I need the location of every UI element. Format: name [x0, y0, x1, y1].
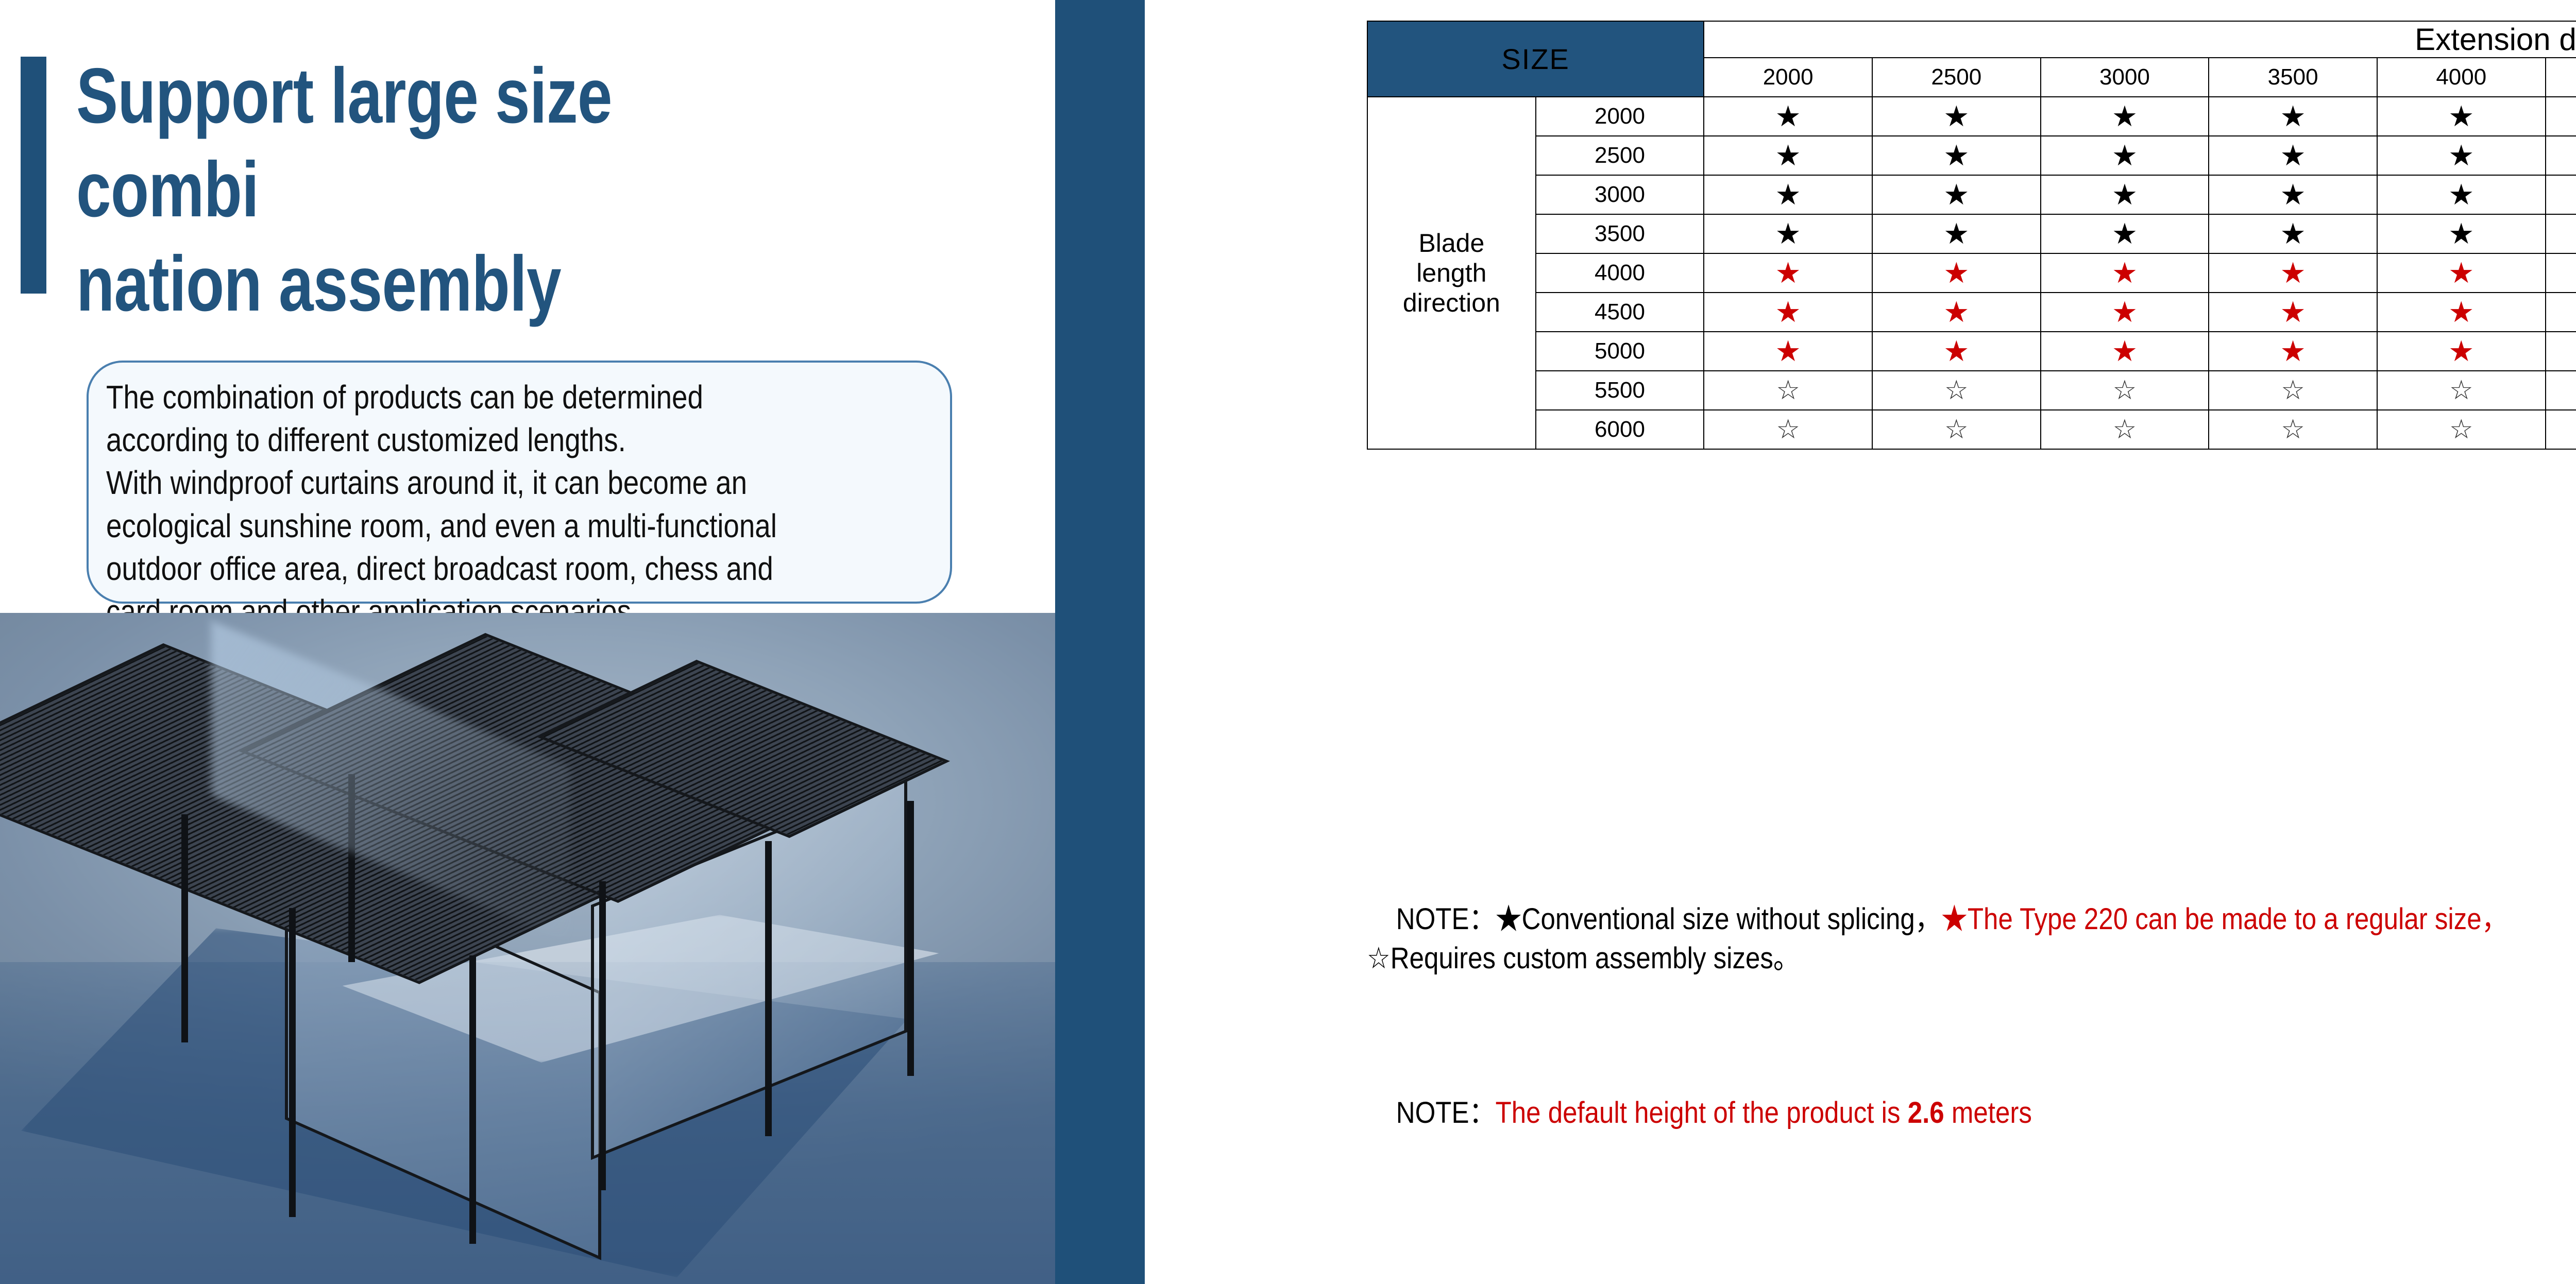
size-matrix-container: SIZE Extension direction 200025003000350…: [1367, 21, 2576, 450]
row-header-2000: 2000: [1536, 97, 1704, 136]
note-splicing: NOTE：★Conventional size without splicing…: [1367, 861, 2576, 1017]
red-star-icon: ★: [2112, 298, 2138, 327]
cell-4000-4000: ★: [2377, 253, 2546, 293]
black-star-icon: ★: [2112, 180, 2138, 209]
black-star-icon: ★: [2448, 180, 2474, 209]
cell-4000-4500: ★: [2546, 253, 2576, 293]
red-star-icon: ★: [1775, 298, 1801, 327]
table-row: 3000★★★★★★★★★☆: [1367, 175, 2576, 214]
black-star-icon: ★: [2112, 102, 2138, 131]
black-star-icon: ★: [2280, 102, 2306, 131]
black-star-icon: ★: [2280, 141, 2306, 170]
red-star-icon: ★: [2280, 259, 2306, 287]
notes-container: NOTE：★Conventional size without splicing…: [1367, 861, 2576, 1171]
red-star-icon: ★: [2280, 337, 2306, 366]
hollow-star-icon: ☆: [2113, 377, 2137, 404]
table-head-row-1: SIZE Extension direction: [1367, 21, 2576, 58]
cell-5000-2000: ★: [1704, 332, 1872, 371]
hollow-star-icon: ☆: [1944, 377, 1969, 404]
hollow-star-icon: ☆: [2281, 416, 2305, 443]
cell-2000-2500: ★: [1872, 97, 2041, 136]
left-panel: Support large size combi nation assembly…: [0, 0, 1055, 1284]
red-star-icon: ★: [1775, 259, 1801, 287]
note-default-height: NOTE：The default height of the product i…: [1367, 1055, 2576, 1171]
column-header-4000: 4000: [2377, 58, 2546, 97]
blade-length-direction-label: Blade length direction: [1367, 97, 1536, 449]
hollow-star-icon: ☆: [2113, 416, 2137, 443]
support-post: [765, 841, 772, 1136]
cell-4500-3000: ★: [2041, 293, 2209, 332]
cell-5500-2500: ☆: [1872, 371, 2041, 410]
note2-red-a: The default height of the product is: [1496, 1096, 1908, 1129]
cell-3000-3500: ★: [2209, 175, 2377, 214]
table-row: 5500☆☆☆☆☆☆☆☆☆☆: [1367, 371, 2576, 410]
cell-2500-2000: ★: [1704, 136, 1872, 175]
black-star-icon: ★: [1775, 180, 1801, 209]
cell-5500-4000: ☆: [2377, 371, 2546, 410]
red-star-icon: ★: [2112, 337, 2138, 366]
extension-direction-header: Extension direction: [1704, 21, 2576, 58]
cell-2000-3000: ★: [2041, 97, 2209, 136]
red-star-icon: ★: [2112, 259, 2138, 287]
support-post: [181, 814, 188, 1042]
cell-3000-2000: ★: [1704, 175, 1872, 214]
cell-2000-4500: ★: [2546, 97, 2576, 136]
callout-text: The combination of products can be deter…: [106, 376, 828, 633]
row-header-4500: 4500: [1536, 293, 1704, 332]
row-header-6000: 6000: [1536, 410, 1704, 449]
page-title: Support large size combi nation assembly: [76, 49, 802, 331]
callout-box: The combination of products can be deter…: [87, 361, 952, 604]
cell-3500-3500: ★: [2209, 214, 2377, 253]
hollow-star-icon: ☆: [1776, 416, 1800, 443]
cell-3000-3000: ★: [2041, 175, 2209, 214]
cell-3500-3000: ★: [2041, 214, 2209, 253]
cell-6000-4500: ☆: [2546, 410, 2576, 449]
cell-5500-3000: ☆: [2041, 371, 2209, 410]
column-header-3500: 3500: [2209, 58, 2377, 97]
cell-2500-4500: ★: [2546, 136, 2576, 175]
hollow-star-icon: ☆: [2449, 377, 2473, 404]
cell-2500-3000: ★: [2041, 136, 2209, 175]
cell-4000-2000: ★: [1704, 253, 1872, 293]
red-star-icon: ★: [2448, 259, 2474, 287]
cell-3500-4000: ★: [2377, 214, 2546, 253]
red-star-icon: ★: [2280, 298, 2306, 327]
cell-6000-2500: ☆: [1872, 410, 2041, 449]
row-header-5000: 5000: [1536, 332, 1704, 371]
note1-black-a: ★Conventional size without splicing，: [1496, 902, 1941, 936]
black-star-icon: ★: [1775, 219, 1801, 248]
product-image: [0, 613, 1055, 1284]
black-star-icon: ★: [1775, 141, 1801, 170]
cell-3000-4500: ★: [2546, 175, 2576, 214]
black-star-icon: ★: [2448, 102, 2474, 131]
support-post: [907, 801, 914, 1076]
cell-4000-2500: ★: [1872, 253, 2041, 293]
cell-2000-2000: ★: [1704, 97, 1872, 136]
cell-4500-2000: ★: [1704, 293, 1872, 332]
cell-5500-3500: ☆: [2209, 371, 2377, 410]
red-star-icon: ★: [1943, 259, 1969, 287]
black-star-icon: ★: [2112, 219, 2138, 248]
cell-5000-3000: ★: [2041, 332, 2209, 371]
column-header-3000: 3000: [2041, 58, 2209, 97]
title-accent-bar: [21, 57, 46, 294]
cell-6000-2000: ☆: [1704, 410, 1872, 449]
row-header-5500: 5500: [1536, 371, 1704, 410]
cell-2500-2500: ★: [1872, 136, 2041, 175]
blue-divider-band: [1055, 0, 1145, 1284]
row-header-3500: 3500: [1536, 214, 1704, 253]
cell-3500-2500: ★: [1872, 214, 2041, 253]
cell-6000-3000: ☆: [2041, 410, 2209, 449]
hollow-star-icon: ☆: [2281, 377, 2305, 404]
hollow-star-icon: ☆: [1776, 377, 1800, 404]
cell-5000-4500: ★: [2546, 332, 2576, 371]
cell-4500-2500: ★: [1872, 293, 2041, 332]
row-header-3000: 3000: [1536, 175, 1704, 214]
table-row: 4500★★★★★★★★★☆: [1367, 293, 2576, 332]
red-star-icon: ★: [1943, 298, 1969, 327]
black-star-icon: ★: [1943, 219, 1969, 248]
red-star-icon: ★: [1943, 337, 1969, 366]
note2-label: NOTE：: [1396, 1096, 1496, 1129]
table-head: SIZE Extension direction 200025003000350…: [1367, 21, 2576, 97]
red-star-icon: ★: [1775, 337, 1801, 366]
cell-5000-4000: ★: [2377, 332, 2546, 371]
cell-2500-3500: ★: [2209, 136, 2377, 175]
cell-6000-4000: ☆: [2377, 410, 2546, 449]
column-header-2000: 2000: [1704, 58, 1872, 97]
table-row: Blade length direction2000★★★★★★★★★☆: [1367, 97, 2576, 136]
table-row: 2500★★★★★★★★★☆: [1367, 136, 2576, 175]
note1-red: ★The Type 220 can be made to a regular s…: [1941, 902, 2508, 936]
black-star-icon: ★: [2448, 141, 2474, 170]
cell-4000-3500: ★: [2209, 253, 2377, 293]
column-header-2500: 2500: [1872, 58, 2041, 97]
size-matrix-table: SIZE Extension direction 200025003000350…: [1367, 21, 2576, 450]
cell-5500-4500: ☆: [2546, 371, 2576, 410]
red-star-icon: ★: [2448, 337, 2474, 366]
black-star-icon: ★: [1943, 180, 1969, 209]
red-star-icon: ★: [2448, 298, 2474, 327]
black-star-icon: ★: [2112, 141, 2138, 170]
black-star-icon: ★: [2448, 219, 2474, 248]
cell-6000-3500: ☆: [2209, 410, 2377, 449]
black-star-icon: ★: [1943, 141, 1969, 170]
support-post: [289, 908, 296, 1217]
cell-3000-2500: ★: [1872, 175, 2041, 214]
table-body: Blade length direction2000★★★★★★★★★☆2500…: [1367, 97, 2576, 449]
column-header-4500: 4500: [2546, 58, 2576, 97]
table-row: 5000★★★★★★★★★☆: [1367, 332, 2576, 371]
hollow-star-icon: ☆: [1944, 416, 1969, 443]
cell-5000-2500: ★: [1872, 332, 2041, 371]
size-header-cell: SIZE: [1367, 21, 1704, 97]
cell-3000-4000: ★: [2377, 175, 2546, 214]
black-star-icon: ★: [1775, 102, 1801, 131]
cell-2500-4000: ★: [2377, 136, 2546, 175]
black-star-icon: ★: [1943, 102, 1969, 131]
row-header-2500: 2500: [1536, 136, 1704, 175]
note2-red-b: meters: [1944, 1096, 2032, 1129]
row-header-4000: 4000: [1536, 253, 1704, 293]
cell-4500-3500: ★: [2209, 293, 2377, 332]
support-post: [599, 881, 606, 1190]
cell-2000-4000: ★: [2377, 97, 2546, 136]
cell-5000-3500: ★: [2209, 332, 2377, 371]
table-row: 6000☆☆☆☆☆☆☆☆☆☆: [1367, 410, 2576, 449]
black-star-icon: ★: [2280, 180, 2306, 209]
table-row: 3500★★★★★★★★★☆: [1367, 214, 2576, 253]
cell-3500-2000: ★: [1704, 214, 1872, 253]
hollow-star-icon: ☆: [2449, 416, 2473, 443]
note1-black-b: ☆Requires custom assembly sizes。: [1367, 941, 1800, 975]
cell-4500-4500: ★: [2546, 293, 2576, 332]
black-star-icon: ★: [2280, 219, 2306, 248]
cell-2000-3500: ★: [2209, 97, 2377, 136]
support-post: [469, 955, 476, 1244]
note1-label: NOTE：: [1396, 902, 1496, 936]
note2-height-value: 2.6: [1908, 1096, 1944, 1129]
cell-3500-4500: ★: [2546, 214, 2576, 253]
cell-4500-4000: ★: [2377, 293, 2546, 332]
cell-4000-3000: ★: [2041, 253, 2209, 293]
cell-5500-2000: ☆: [1704, 371, 1872, 410]
table-row: 4000★★★★★★★★★☆: [1367, 253, 2576, 293]
